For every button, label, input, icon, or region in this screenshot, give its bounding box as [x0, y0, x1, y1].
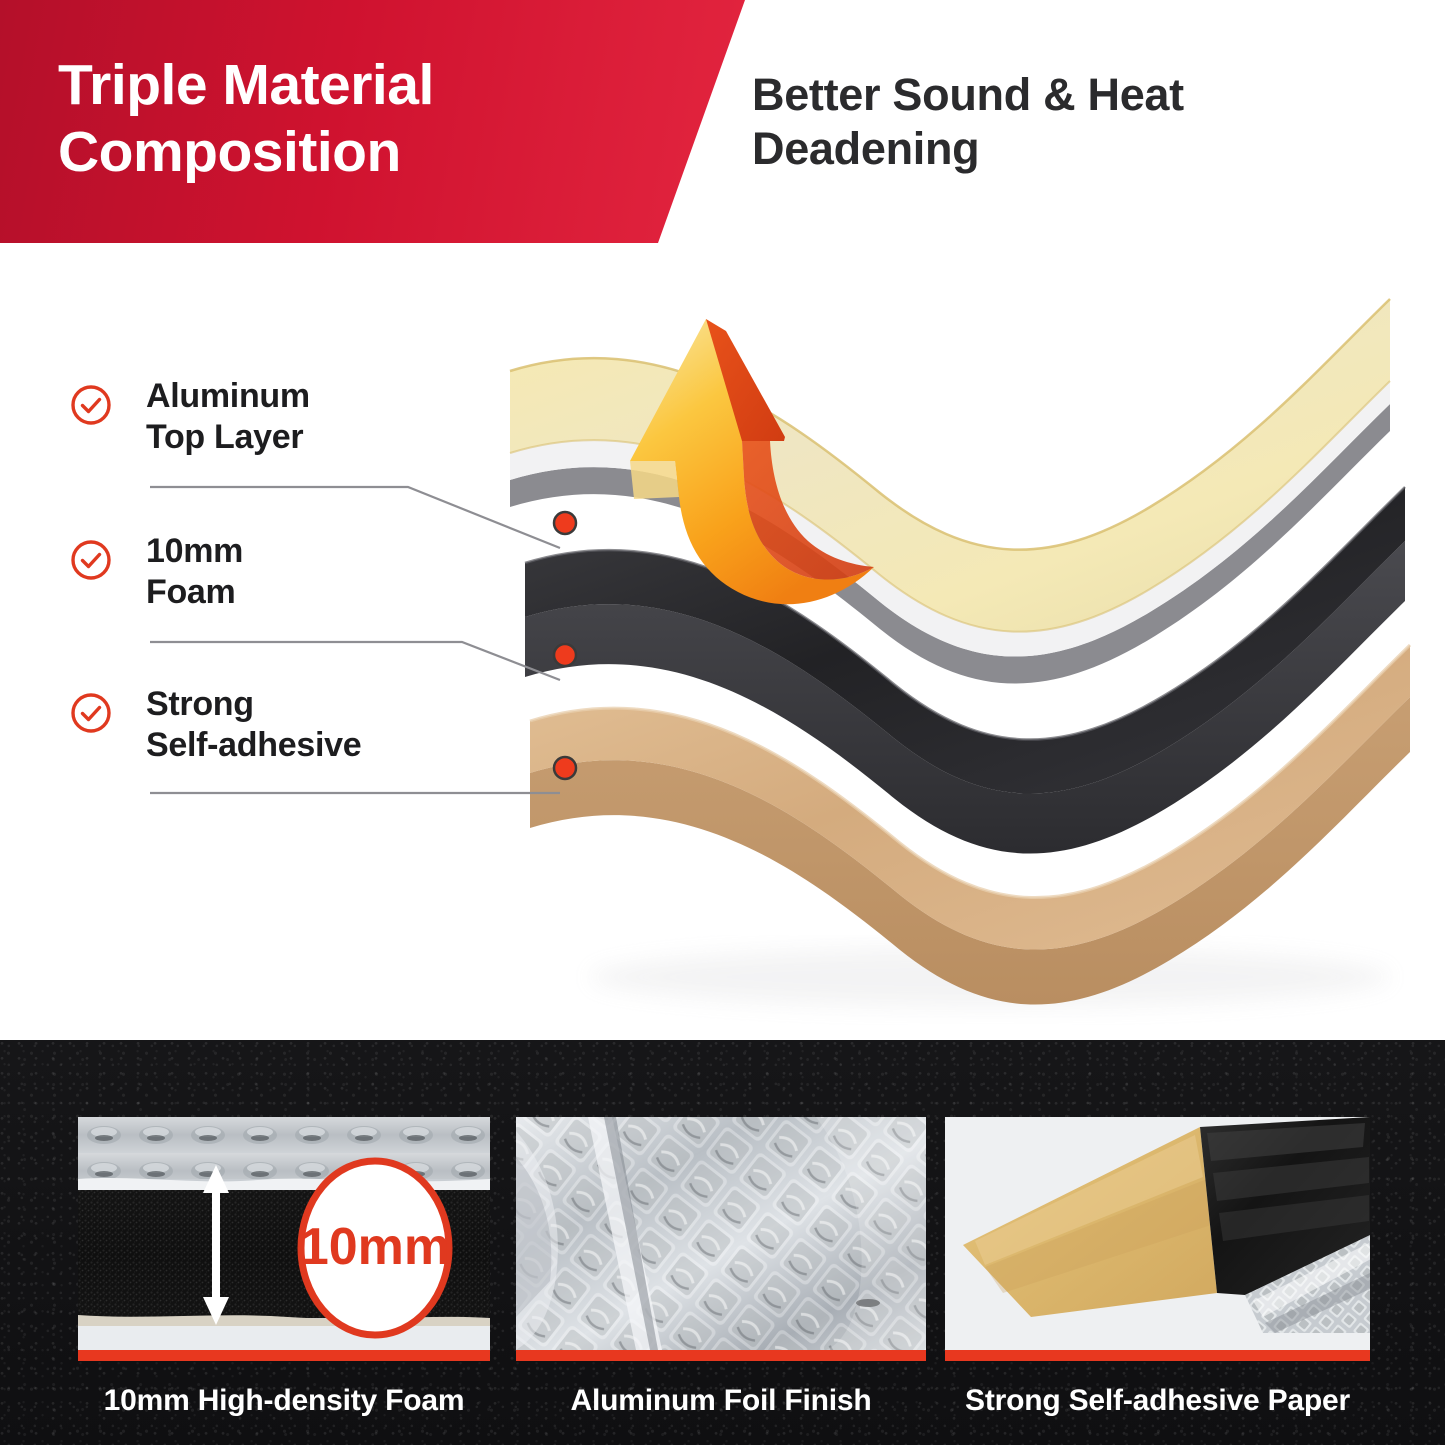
gallery-card-foam: 10mm 10mm High-density Foam	[78, 1117, 490, 1418]
card-underline	[516, 1350, 926, 1361]
thickness-badge: 10mm	[300, 1161, 450, 1335]
kraft-adhesive-backing-photo	[945, 1117, 1370, 1350]
feature-bullet-label: Aluminum Top Layer	[146, 376, 506, 459]
gallery-card-caption: Aluminum Foil Finish	[516, 1384, 926, 1418]
leader-line-foam	[150, 642, 560, 680]
foam-cross-section-photo: 10mm	[78, 1117, 490, 1350]
check-circle-icon	[70, 692, 112, 734]
header-subtitle: Better Sound & Heat Deadening	[752, 68, 1392, 176]
check-circle-icon	[70, 539, 112, 581]
adhesive-photo-graphic	[945, 1117, 1370, 1350]
check-circle-icon	[70, 384, 112, 426]
thickness-badge-label: 10mm	[300, 1218, 450, 1276]
card-underline	[945, 1350, 1370, 1361]
gallery-card-foil: Aluminum Foil Finish	[516, 1117, 926, 1418]
foil-photo-graphic	[516, 1117, 926, 1350]
feature-bullet-label: 10mm Foam	[146, 531, 506, 614]
leader-lines	[0, 245, 1445, 1040]
gallery-card-adhesive: Strong Self-adhesive Paper	[945, 1117, 1370, 1418]
header: Triple Material Composition Better Sound…	[0, 0, 1445, 245]
embossed-aluminum-foil-photo	[516, 1117, 926, 1350]
product-detail-gallery: 10mm 10mm High-density Foam	[0, 1040, 1445, 1445]
feature-bullet-label: Strong Self-adhesive	[146, 684, 506, 767]
gallery-card-caption: Strong Self-adhesive Paper	[945, 1384, 1370, 1418]
foam-photo-graphic: 10mm	[78, 1117, 490, 1350]
card-underline	[78, 1350, 490, 1361]
page-title: Triple Material Composition	[58, 52, 678, 187]
feature-area: Aluminum Top Layer 10mm Foam Strong Self…	[0, 245, 1445, 1040]
gallery-card-caption: 10mm High-density Foam	[78, 1384, 490, 1418]
